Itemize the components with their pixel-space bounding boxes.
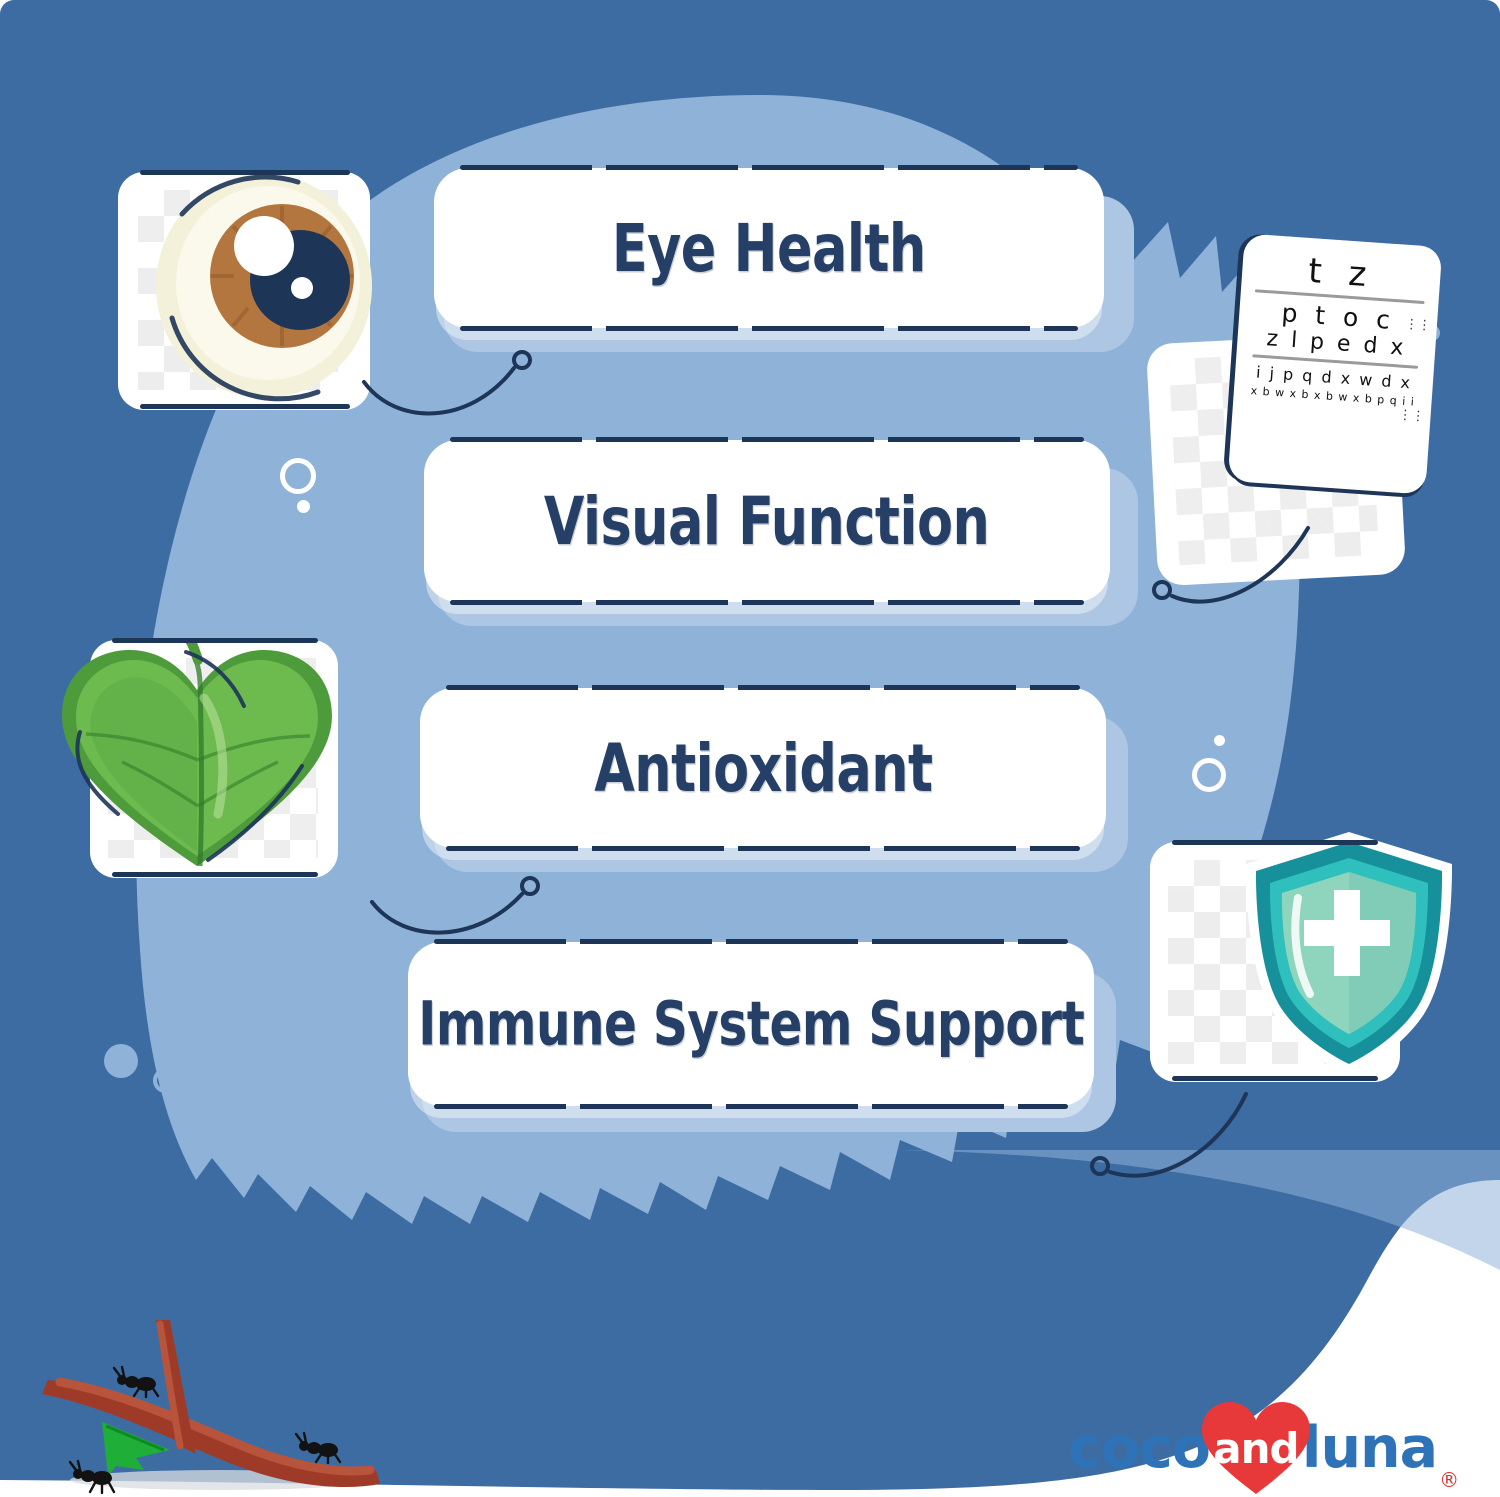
benefit-label: Antioxidant xyxy=(594,730,932,807)
logo-word-luna: luna xyxy=(1302,1420,1437,1477)
tile-edge-line xyxy=(1172,1076,1378,1081)
infographic-canvas: t z p t o c z l p e d x i j p q d x w d … xyxy=(0,0,1500,1497)
benefit-card-immune-system-support[interactable]: Immune System Support xyxy=(408,942,1094,1106)
chart-mark-icon: ⋮⋮ xyxy=(1398,408,1425,425)
tile-edge-line xyxy=(1172,840,1378,845)
logo-word-and: and xyxy=(1196,1398,1316,1497)
benefit-card-antioxidant[interactable]: Antioxidant xyxy=(420,688,1106,848)
eye-chart-icon: t z p t o c z l p e d x i j p q d x w d … xyxy=(1228,233,1443,494)
chart-mark-icon: ⋮⋮ xyxy=(1404,317,1431,334)
tile-edge-line xyxy=(112,872,318,877)
connector-squiggle xyxy=(1070,1088,1260,1198)
tile-edge-line xyxy=(112,638,318,643)
benefit-label: Immune System Support xyxy=(418,989,1084,1060)
twig-with-ants-icon xyxy=(40,1318,410,1497)
bubble-ring-icon xyxy=(153,1068,178,1093)
leaf-heart-icon xyxy=(52,638,342,874)
brand-logo[interactable]: coco and luna ® xyxy=(1068,1398,1459,1497)
bubble-dot-icon xyxy=(1214,735,1225,746)
bubble-ring-icon xyxy=(280,458,316,494)
benefit-card-eye-health[interactable]: Eye Health xyxy=(434,168,1104,328)
bubble-dot-icon xyxy=(297,500,310,513)
bubble-ring-icon xyxy=(1192,758,1226,792)
benefit-label: Visual Function xyxy=(544,483,989,560)
connector-squiggle xyxy=(362,862,562,952)
medical-shield-icon xyxy=(1238,828,1460,1080)
tile-edge-line xyxy=(140,170,350,175)
heart-icon: and xyxy=(1196,1398,1316,1497)
bubble-dot-icon xyxy=(104,1044,138,1078)
benefit-label: Eye Health xyxy=(612,210,926,287)
connector-squiggle xyxy=(352,338,552,430)
eye-chart-row: t z xyxy=(1241,243,1441,297)
logo-word-coco: coco xyxy=(1068,1420,1210,1477)
tile-edge-line xyxy=(140,404,350,409)
registered-trademark-icon: ® xyxy=(1439,1468,1459,1492)
connector-squiggle xyxy=(1128,520,1328,620)
benefit-card-visual-function[interactable]: Visual Function xyxy=(424,440,1110,602)
